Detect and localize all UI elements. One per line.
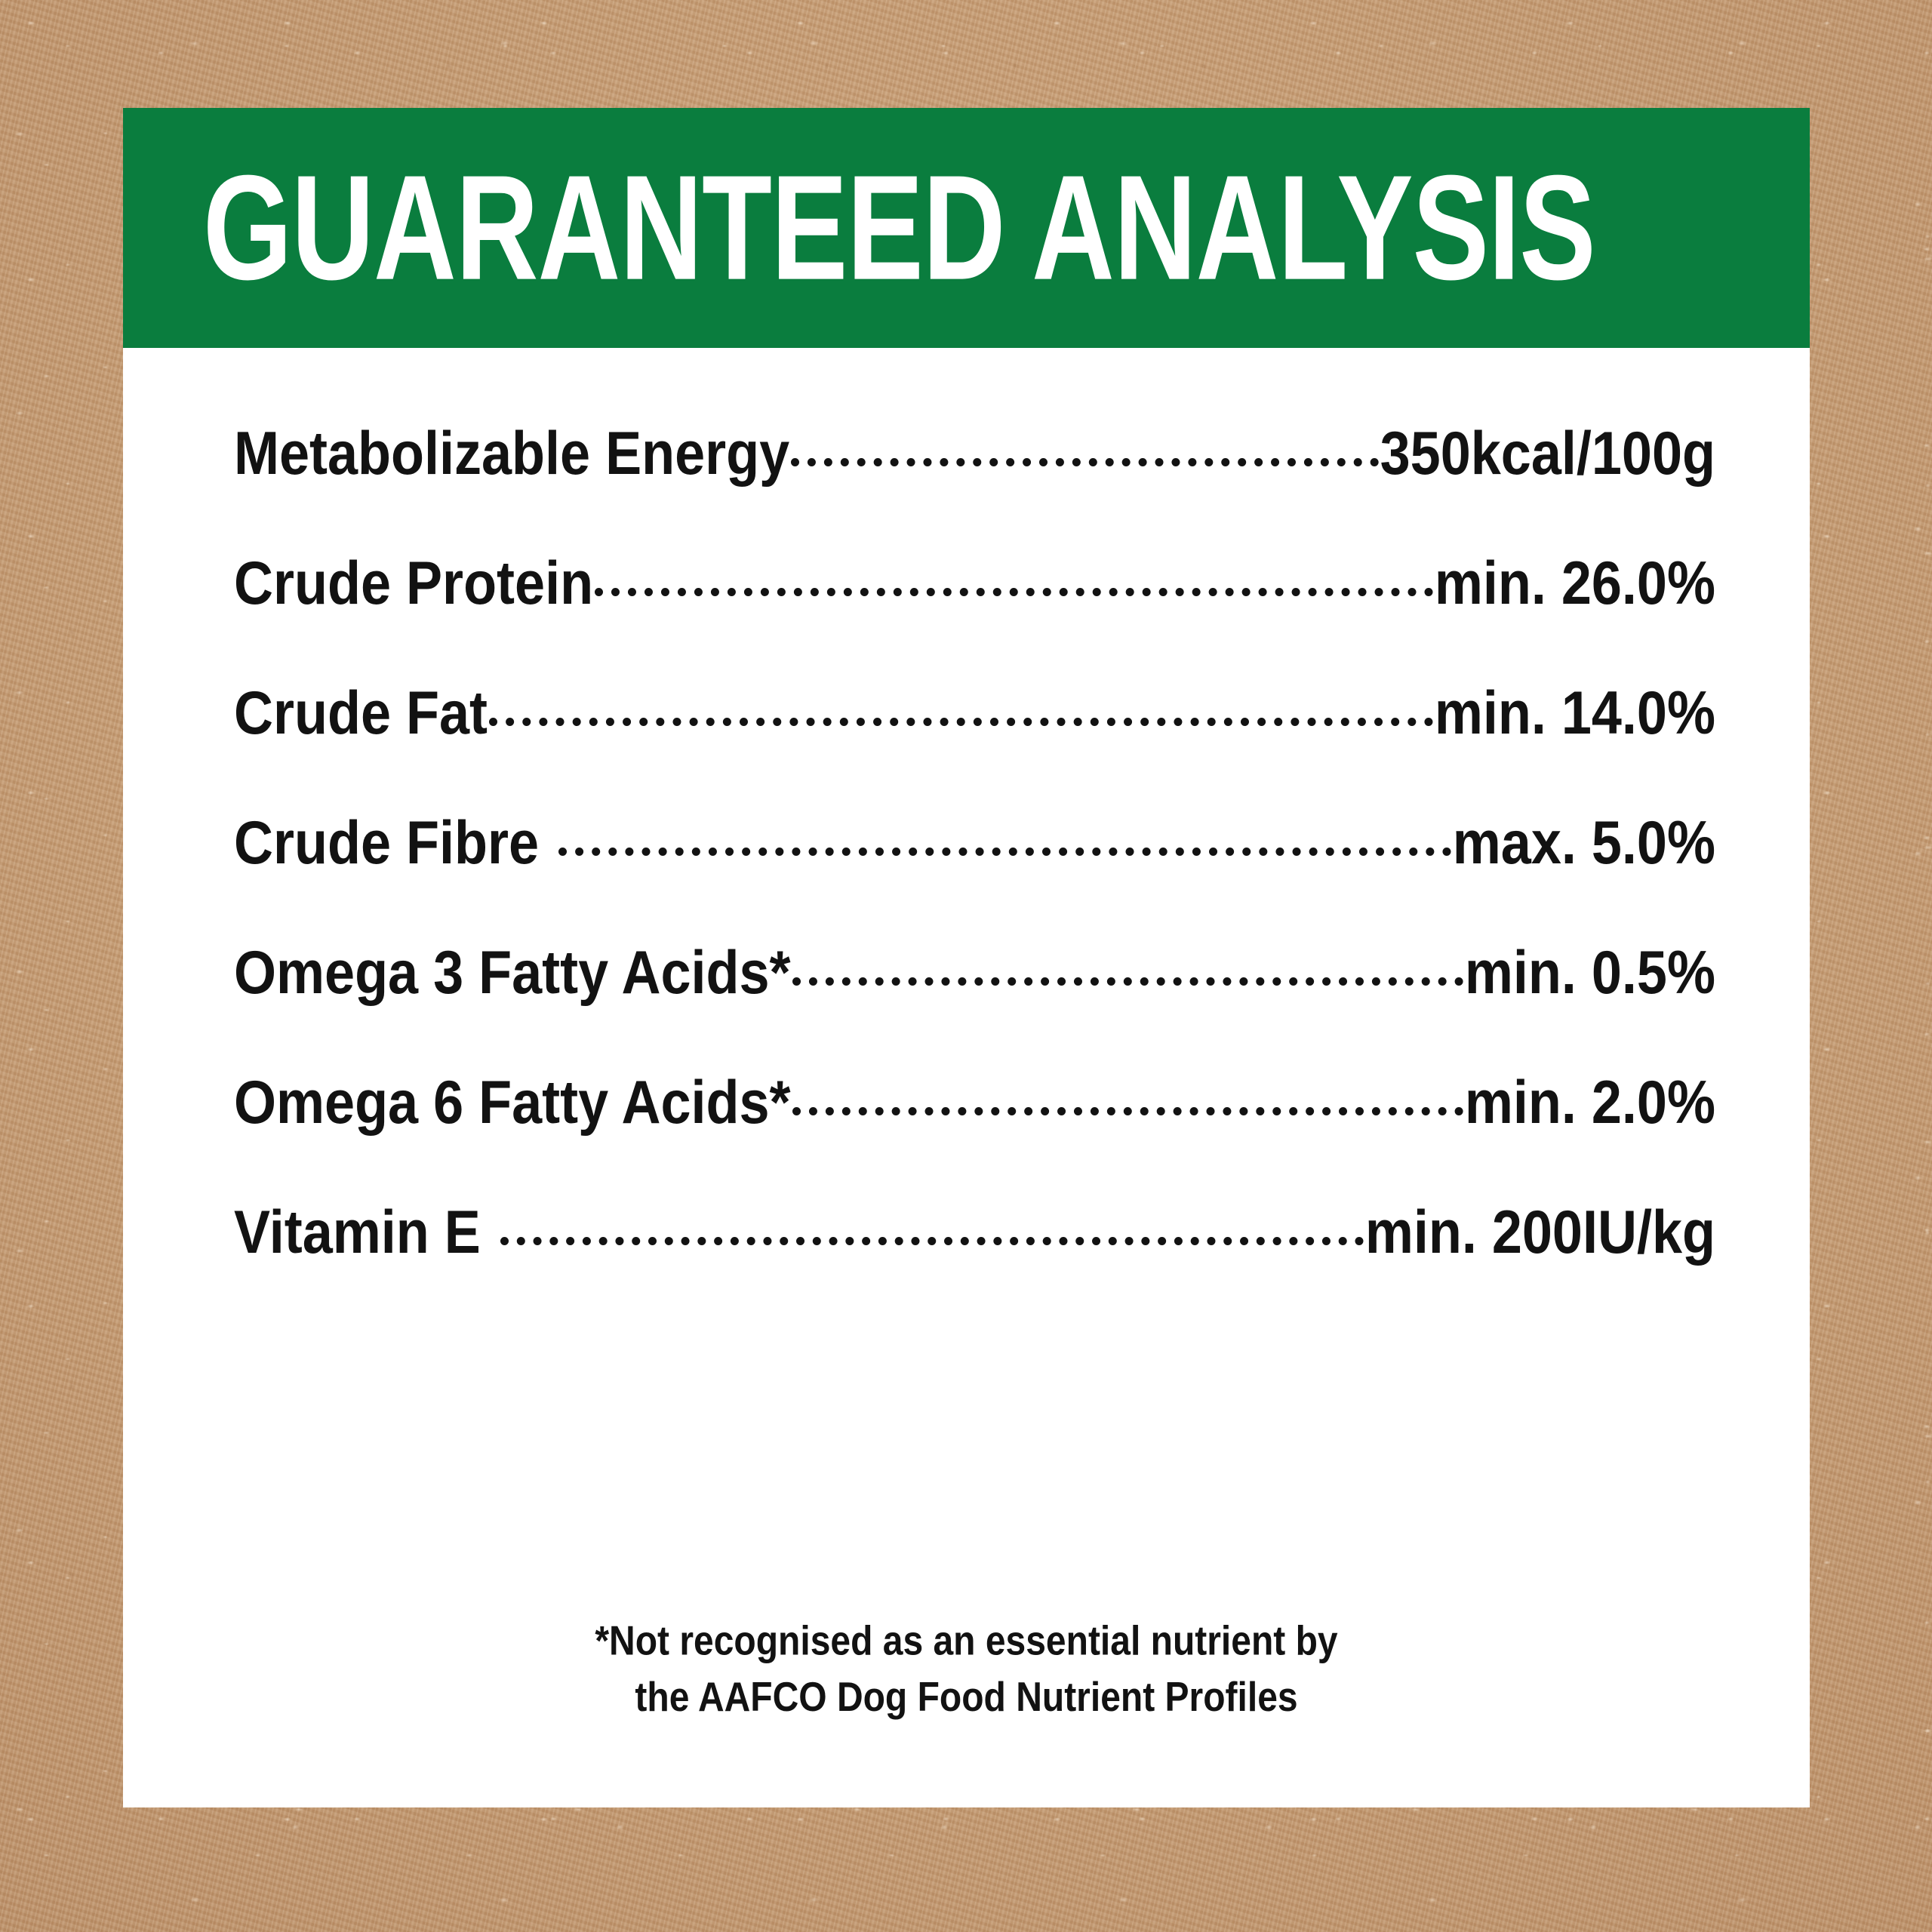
dot-leader (500, 1237, 1364, 1245)
nutrient-value: min. 14.0% (1435, 686, 1715, 748)
footnote: *Not recognised as an essential nutrient… (123, 1614, 1810, 1726)
nutrient-name: Omega 6 Fatty Acids* (234, 1075, 791, 1137)
dot-leader (791, 458, 1378, 466)
nutrient-value: 350kcal/100g (1380, 426, 1715, 488)
analysis-row: Vitamin E min. 200IU/kg (234, 1205, 1715, 1335)
header-band: GUARANTEED ANALYSIS (123, 108, 1810, 348)
nutrient-value: min. 0.5% (1465, 946, 1715, 1008)
analysis-row: Crude Protein min. 26.0% (234, 556, 1715, 686)
nutrient-value: min. 200IU/kg (1365, 1205, 1715, 1267)
analysis-rows-list: Metabolizable Energy 350kcal/100g Crude … (234, 426, 1715, 1335)
page-title: GUARANTEED ANALYSIS (203, 153, 1595, 303)
footnote-line-1: *Not recognised as an essential nutrient… (123, 1614, 1810, 1669)
analysis-row: Omega 3 Fatty Acids* min. 0.5% (234, 946, 1715, 1075)
analysis-row: Crude Fat min. 14.0% (234, 686, 1715, 816)
guaranteed-analysis-card: GUARANTEED ANALYSIS Metabolizable Energy… (123, 108, 1810, 1807)
nutrient-name: Crude Fibre (234, 816, 539, 878)
nutrient-name: Crude Fat (234, 686, 488, 748)
nutrient-value: min. 26.0% (1435, 556, 1715, 618)
nutrient-name: Vitamin E (234, 1205, 481, 1267)
dot-leader (558, 848, 1451, 856)
analysis-row: Metabolizable Energy 350kcal/100g (234, 426, 1715, 556)
analysis-row: Crude Fibre max. 5.0% (234, 816, 1715, 946)
nutrient-name: Omega 3 Fatty Acids* (234, 946, 791, 1008)
dot-leader (595, 588, 1433, 596)
dot-leader (489, 718, 1433, 726)
dot-leader (792, 1107, 1463, 1115)
nutrient-name: Crude Protein (234, 556, 593, 618)
analysis-row: Omega 6 Fatty Acids* min. 2.0% (234, 1075, 1715, 1205)
footnote-line-2: the AAFCO Dog Food Nutrient Profiles (123, 1669, 1810, 1725)
nutrient-name: Metabolizable Energy (234, 426, 789, 488)
nutrient-value: min. 2.0% (1465, 1075, 1715, 1137)
dot-leader (792, 977, 1463, 986)
nutrient-value: max. 5.0% (1453, 816, 1715, 878)
